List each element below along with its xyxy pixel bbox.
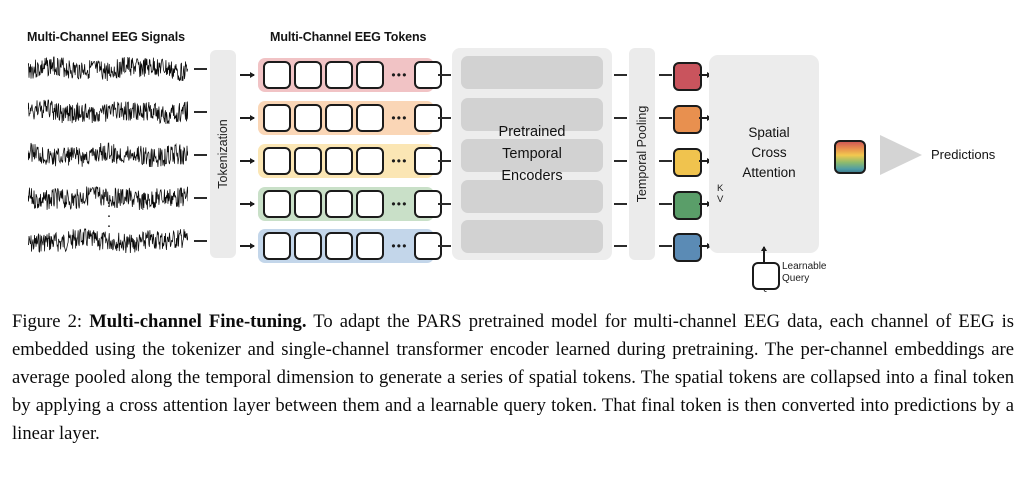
token-row: ••• xyxy=(258,187,434,221)
token-cell xyxy=(356,61,384,89)
connector-line xyxy=(438,245,451,247)
temporal-pooling-block: Temporal Pooling xyxy=(629,48,655,260)
figure-caption: Figure 2: Multi-channel Fine-tuning. To … xyxy=(12,308,1014,448)
token-row-ellipsis: ••• xyxy=(387,156,412,166)
token-row: ••• xyxy=(258,229,434,263)
token-cell xyxy=(263,147,291,175)
token-row-ellipsis: ••• xyxy=(387,199,412,209)
learnable-query-arrow-icon xyxy=(763,247,765,262)
token-cell xyxy=(294,147,322,175)
token-cell xyxy=(263,232,291,260)
arrow-right-icon xyxy=(240,203,254,205)
connector-line xyxy=(438,74,451,76)
tokenization-label: Tokenization xyxy=(216,119,230,189)
kv-label: K V xyxy=(717,183,723,205)
header-eeg-tokens: Multi-Channel EEG Tokens xyxy=(270,30,426,44)
token-cell xyxy=(263,104,291,132)
encoder-bar xyxy=(461,98,603,131)
learnable-query-label: Learnable Query xyxy=(782,261,826,285)
token-row-ellipsis: ••• xyxy=(387,241,412,251)
learnable-query-line1: Learnable xyxy=(782,261,826,273)
connector-line xyxy=(438,160,451,162)
connector-line xyxy=(438,203,451,205)
connector-line xyxy=(194,197,207,199)
connector-line xyxy=(614,203,627,205)
eeg-signal-trace xyxy=(28,99,188,125)
token-cell xyxy=(294,104,322,132)
token-row: ••• xyxy=(258,58,434,92)
encoder-bar xyxy=(461,56,603,89)
encoder-bar xyxy=(461,180,603,213)
v-label: V xyxy=(717,194,723,205)
encoder-bar xyxy=(461,139,603,172)
token-cell xyxy=(294,232,322,260)
connector-line xyxy=(659,160,672,162)
token-cell xyxy=(325,147,353,175)
arrow-right-icon xyxy=(240,117,254,119)
connector-line xyxy=(659,117,672,119)
learnable-query-token xyxy=(752,262,780,290)
attention-label: Spatial Cross Attention xyxy=(723,123,815,183)
token-cell xyxy=(356,104,384,132)
connector-line xyxy=(659,203,672,205)
connector-line xyxy=(614,245,627,247)
token-cell xyxy=(356,147,384,175)
final-token-gradient xyxy=(834,140,866,174)
connector-line xyxy=(194,111,207,113)
caption-figure-number: Figure 2: xyxy=(12,311,89,332)
encoder-bar xyxy=(461,220,603,253)
token-row: ••• xyxy=(258,144,434,178)
token-cell xyxy=(325,61,353,89)
token-row: ••• xyxy=(258,101,434,135)
token-cell xyxy=(356,232,384,260)
connector-line xyxy=(614,160,627,162)
pretrained-temporal-encoders-block: Pretrained Temporal Encoders xyxy=(452,48,612,260)
temporal-pooling-label: Temporal Pooling xyxy=(635,106,649,203)
predictions-label: Predictions xyxy=(931,147,995,162)
figure-diagram: Multi-Channel EEG Signals Multi-Channel … xyxy=(0,0,1024,300)
arrow-right-icon xyxy=(240,245,254,247)
token-cell xyxy=(325,104,353,132)
attention-label-line1: Spatial xyxy=(723,123,815,143)
eeg-signal-trace xyxy=(28,142,188,168)
token-row-ellipsis: ••• xyxy=(387,113,412,123)
token-cell xyxy=(294,190,322,218)
token-cell xyxy=(294,61,322,89)
spatial-token xyxy=(673,148,702,177)
linear-layer-triangle-icon xyxy=(880,135,922,175)
token-cell xyxy=(356,190,384,218)
arrow-right-icon xyxy=(240,74,254,76)
connector-line xyxy=(659,74,672,76)
connector-line xyxy=(659,245,672,247)
token-cell xyxy=(325,232,353,260)
token-cell xyxy=(263,61,291,89)
connector-line xyxy=(438,117,451,119)
spatial-token xyxy=(673,62,702,91)
attention-label-line2: Cross xyxy=(723,143,815,163)
spatial-token xyxy=(673,191,702,220)
caption-title: Multi-channel Fine-tuning. xyxy=(89,311,306,332)
channel-ellipsis: ··· xyxy=(103,201,115,231)
spatial-token xyxy=(673,105,702,134)
connector-line xyxy=(614,117,627,119)
tokenization-block: Tokenization xyxy=(210,50,236,258)
connector-line xyxy=(194,68,207,70)
k-label: K xyxy=(717,183,723,194)
connector-line xyxy=(614,74,627,76)
attention-label-line3: Attention xyxy=(723,163,815,183)
learnable-query-line2: Query xyxy=(782,273,826,285)
spatial-cross-attention-block: Spatial Cross Attention K V Q xyxy=(709,55,819,253)
spatial-token xyxy=(673,233,702,262)
connector-line xyxy=(194,240,207,242)
connector-line xyxy=(194,154,207,156)
eeg-signal-trace xyxy=(28,56,188,82)
header-eeg-signals: Multi-Channel EEG Signals xyxy=(27,30,185,44)
token-cell xyxy=(263,190,291,218)
arrow-right-icon xyxy=(240,160,254,162)
token-cell xyxy=(325,190,353,218)
token-row-ellipsis: ••• xyxy=(387,70,412,80)
